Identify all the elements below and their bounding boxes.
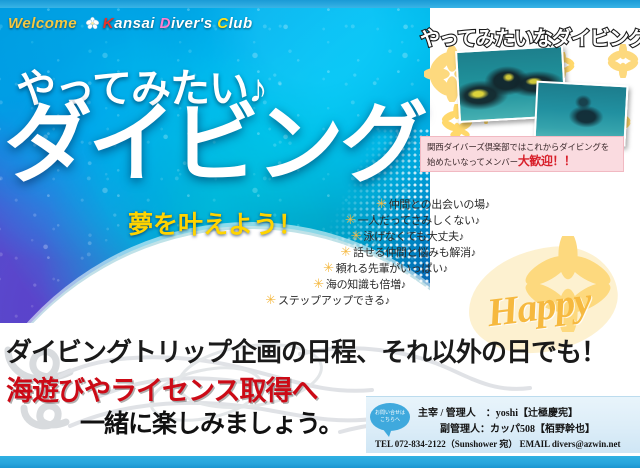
welcome-line: Welcome Kansai Diver's Club	[8, 15, 253, 32]
notice-exclaim: ！！	[552, 154, 575, 168]
brand-ansai: ansai	[114, 15, 155, 32]
welcome-word: Welcome	[8, 15, 77, 32]
list-item: ✳仲間との出会いの場♪	[286, 196, 536, 211]
star-bullet-icon: ✳	[351, 229, 362, 242]
star-bullet-icon: ✳	[313, 277, 324, 290]
closing-copy-line-3: 一緒に楽しみましょう。	[80, 404, 343, 440]
headline-line-3: 夢を叶えよう！	[128, 205, 303, 241]
star-bullet-icon: ✳	[323, 261, 334, 274]
notice-line-2-text: 始めたいなってメンバー	[427, 157, 518, 167]
list-item-label: 泳げなくても大丈夫♪	[363, 228, 464, 244]
notice-box: 関西ダイバーズ倶楽部ではこれからダイビングを 始めたいなってメンバー大歓迎！！	[420, 136, 624, 172]
brand-letter-k: K	[103, 15, 114, 32]
star-bullet-icon: ✳	[345, 213, 356, 226]
tel-email-line: TEL 072-834-2122（Sunshower 宛） EMAIL dive…	[375, 437, 620, 450]
list-item-label: ステップアップできる♪	[278, 292, 390, 308]
closing-copy-line-1: ダイビングトリップ企画の日程、それ以外の日でも！	[6, 332, 606, 369]
brand-ivers: iver's	[171, 15, 213, 32]
inquiry-bubble-line-1: お問い合せは	[375, 410, 405, 417]
admin-line: 主宰 / 管理人 ：yoshi【辻極慶宪】	[418, 404, 578, 419]
brand-letter-d: D	[160, 15, 171, 32]
notice-line-1: 関西ダイバーズ倶楽部ではこれからダイビングを	[427, 140, 617, 154]
list-item-label: 海の知識も倍増♪	[326, 276, 406, 292]
closing-copy-line-2: 海遊びやライセンス取得へ	[6, 369, 317, 408]
list-item-label: 一人だってさみしくない♪	[358, 212, 480, 228]
list-item: ✳頼れる先輩がいっぱい♪	[286, 260, 536, 275]
list-item: ✳ステップアップできる♪	[286, 292, 536, 307]
top-accent-strip	[0, 0, 640, 8]
right-section-title: やってみたいなダイビング!	[420, 22, 640, 51]
notice-emphasis: 大歓迎	[518, 154, 553, 168]
contact-panel: お問い合せは こちらへ 主宰 / 管理人 ：yoshi【辻極慶宪】 副管理人：カ…	[366, 396, 640, 453]
inquiry-bubble-button[interactable]: お問い合せは こちらへ	[370, 403, 410, 431]
benefits-list: ✳仲間との出会いの場♪ ✳一人だってさみしくない♪ ✳泳げなくても大丈夫♪ ✳話…	[286, 196, 536, 308]
poster-root: Welcome Kansai Diver's Club やってみたい♪ ダイビン…	[0, 0, 640, 468]
sub-admin-line: 副管理人：カッパ508【栢野幹也】	[440, 420, 595, 435]
shell-icon	[85, 16, 100, 30]
list-item-label: 話せる仲間と悩みも解消♪	[353, 244, 476, 260]
list-item-label: 仲間との出会いの場♪	[389, 196, 490, 212]
star-bullet-icon: ✳	[265, 293, 276, 306]
list-item: ✳海の知識も倍増♪	[286, 276, 536, 291]
list-item-label: 頼れる先輩がいっぱい♪	[336, 260, 448, 276]
brand-lub: lub	[229, 15, 253, 32]
star-bullet-icon: ✳	[341, 245, 352, 258]
list-item: ✳泳げなくても大丈夫♪	[286, 228, 536, 243]
notice-line-2: 始めたいなってメンバー大歓迎！！	[427, 154, 617, 169]
brand-letter-c: C	[217, 15, 228, 32]
star-bullet-icon: ✳	[376, 197, 387, 210]
headline-line-2: ダイビング	[4, 100, 424, 188]
list-item: ✳話せる仲間と悩みも解消♪	[286, 244, 536, 259]
inquiry-bubble-line-2: こちらへ	[380, 417, 400, 424]
bottom-accent-strip	[0, 456, 640, 468]
list-item: ✳一人だってさみしくない♪	[286, 212, 536, 227]
